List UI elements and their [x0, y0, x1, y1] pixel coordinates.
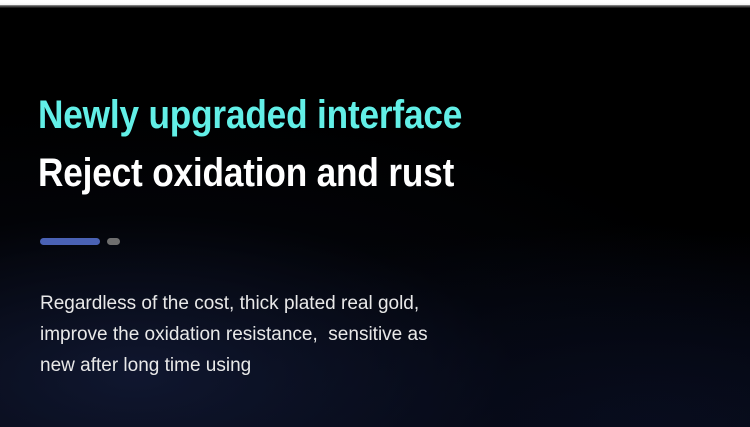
divider-bar-icon [40, 238, 100, 245]
headline-primary: Newly upgraded interface [38, 93, 462, 137]
divider [40, 238, 120, 245]
divider-dot-icon [107, 238, 120, 245]
headline-secondary: Reject oxidation and rust [38, 151, 454, 195]
banner-content: Newly upgraded interface Reject oxidatio… [38, 0, 728, 427]
promotional-banner: Newly upgraded interface Reject oxidatio… [0, 0, 750, 427]
body-description: Regardless of the cost, thick plated rea… [40, 288, 640, 381]
